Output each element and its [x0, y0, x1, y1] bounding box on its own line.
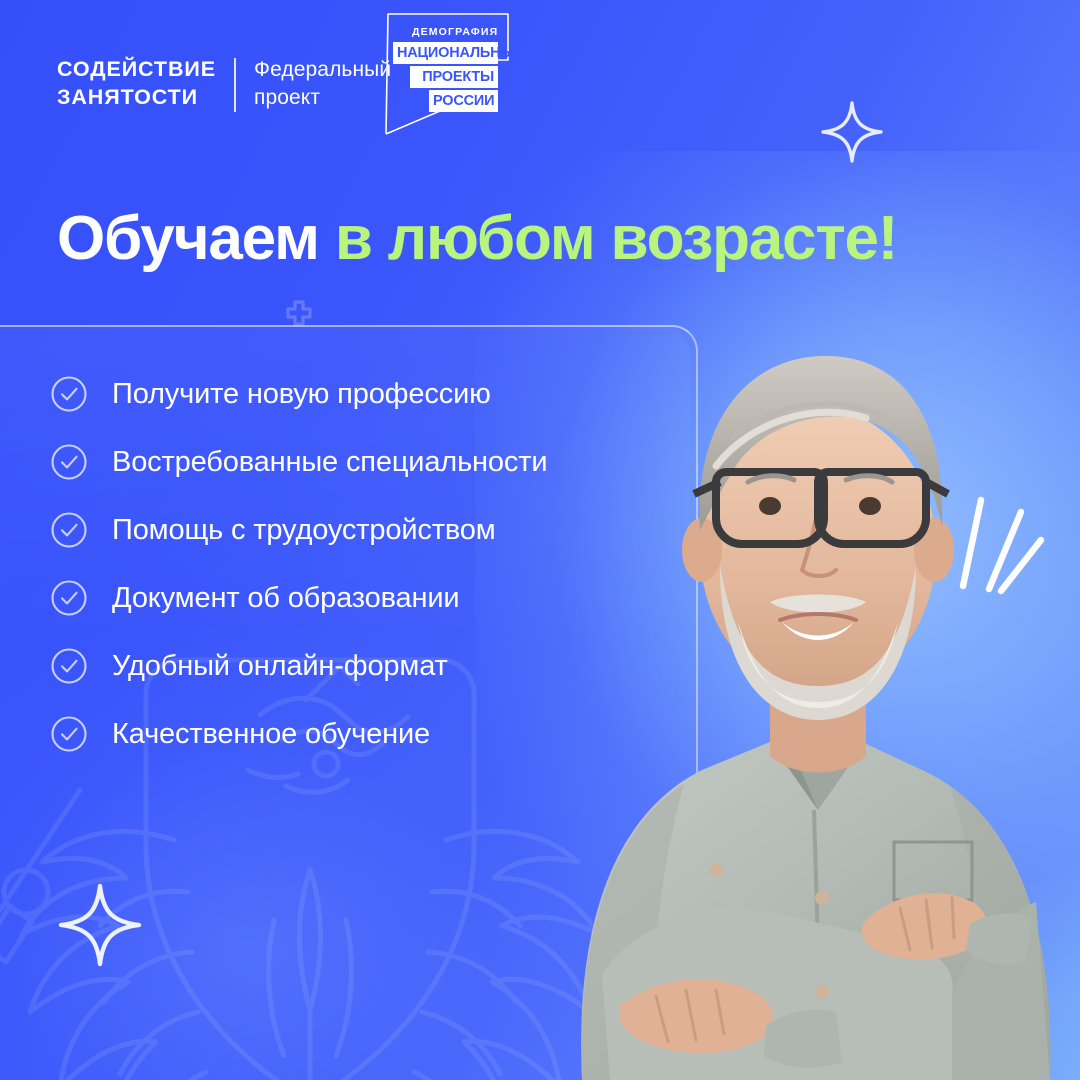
list-item-label: Документ об образовании: [112, 582, 459, 615]
check-circle-icon: [50, 443, 88, 481]
np-line-1: НАЦИОНАЛЬНЫЕ: [393, 42, 498, 64]
national-projects-wordmark: НАЦИОНАЛЬНЫЕ ПРОЕКТЫ РОССИИ: [393, 42, 498, 114]
check-circle-icon: [50, 375, 88, 413]
list-item-label: Помощь с трудоустройством: [112, 514, 496, 547]
check-circle-icon: [50, 715, 88, 753]
brand-name: СОДЕЙСТВИЕ ЗАНЯТОСТИ: [57, 56, 216, 111]
headline-white-part: Обучаем: [57, 204, 319, 273]
check-circle-icon: [50, 579, 88, 617]
check-circle-icon: [50, 647, 88, 685]
poster-root: СОДЕЙСТВИЕ ЗАНЯТОСТИ Федеральный проект …: [0, 0, 1080, 1080]
header: СОДЕЙСТВИЕ ЗАНЯТОСТИ Федеральный проект …: [0, 0, 1080, 160]
list-item-label: Удобный онлайн-формат: [112, 650, 448, 683]
demography-label: ДЕМОГРАФИЯ: [412, 26, 498, 38]
list-item-label: Получите новую профессию: [112, 378, 491, 411]
np-line-3: РОССИИ: [429, 90, 498, 112]
speed-lines-icon: [955, 490, 1047, 595]
four-point-star-icon: [820, 100, 884, 164]
brand-lockup: СОДЕЙСТВИЕ ЗАНЯТОСТИ Федеральный проект: [57, 56, 391, 112]
check-circle-icon: [50, 511, 88, 549]
list-item-label: Качественное обучение: [112, 718, 430, 751]
four-point-star-icon: [57, 882, 143, 968]
brand-divider: [234, 58, 236, 112]
np-line-2: ПРОЕКТЫ: [410, 66, 498, 88]
photo-senior-man: [470, 250, 1080, 1080]
plus-icon: [286, 300, 312, 326]
